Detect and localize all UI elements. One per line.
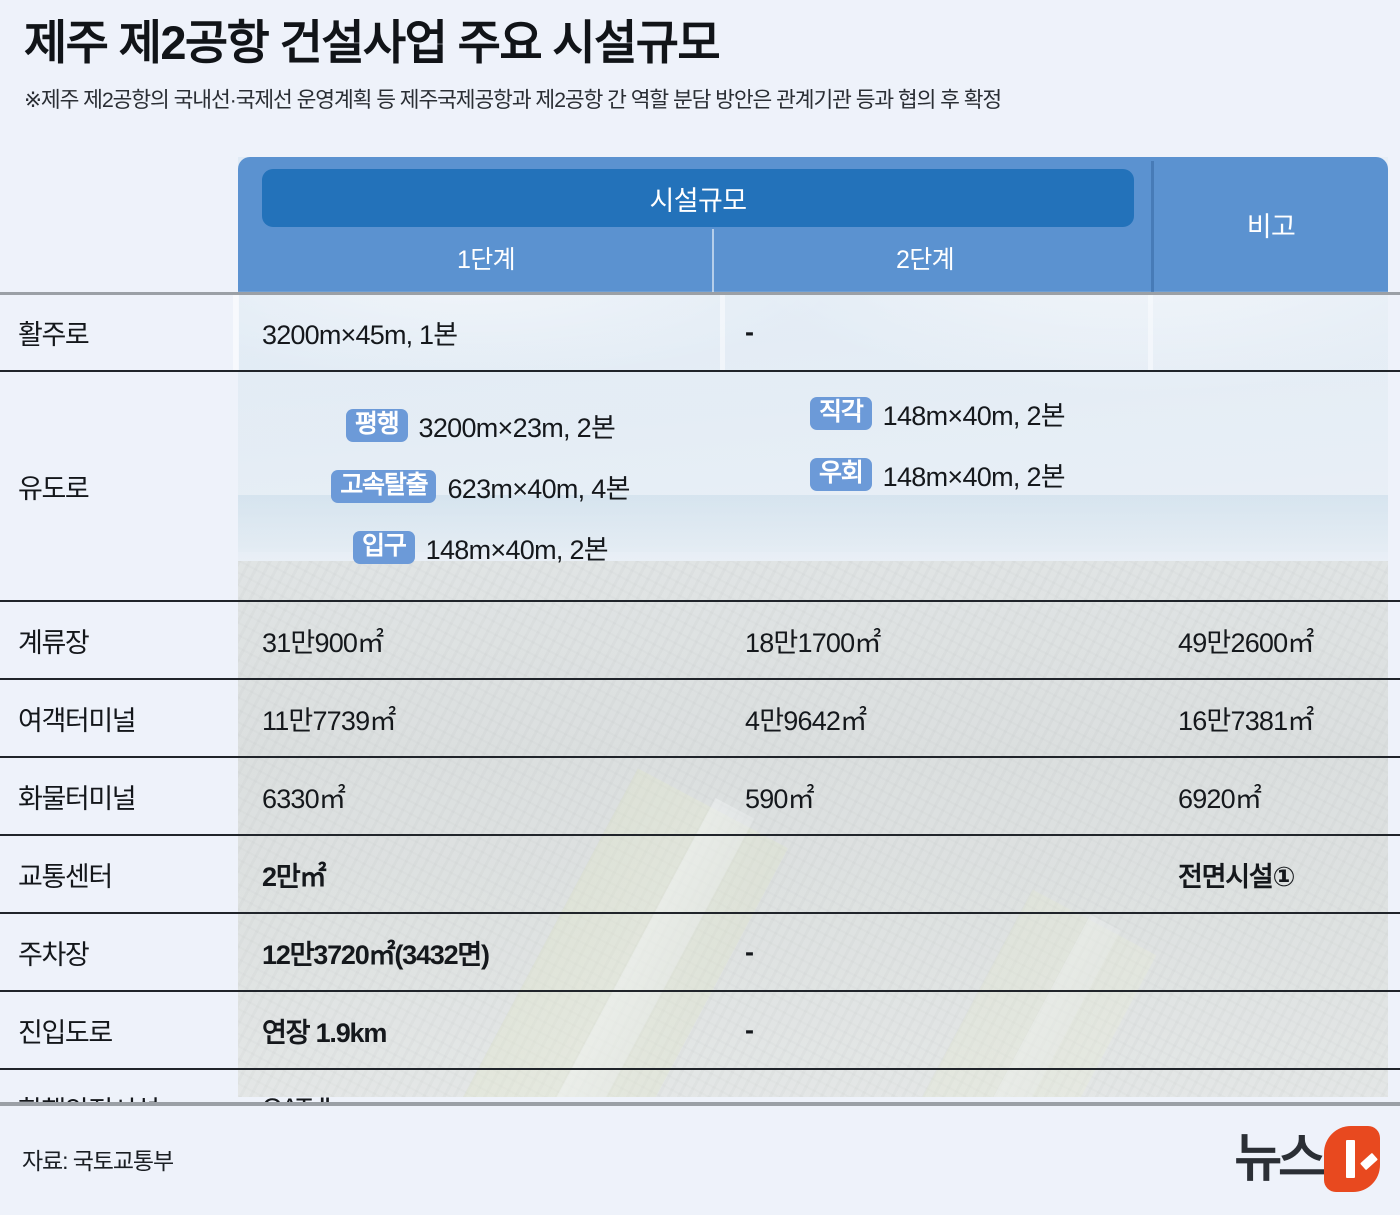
title-block: 제주 제2공항 건설사업 주요 시설규모 ※제주 제2공항의 국내선·국제선 운… <box>24 18 1384 114</box>
row-label-access-road: 진입도로 <box>0 992 238 1068</box>
cell-cargo-terminal-note: 6920㎡ <box>1152 758 1400 834</box>
cell-runway-stage1: 3200m×45m, 1본 <box>238 295 723 370</box>
taxiway-stage2-line: 직각 148m×40m, 2본 <box>810 394 1065 433</box>
table-row: 진입도로 연장 1.9km - <box>0 990 1400 1068</box>
taxiway-right-angle-value: 148m×40m, 2본 <box>883 394 1065 433</box>
taxiway-stage1-line: 평행 3200m×23m, 2본 <box>346 406 615 445</box>
cell-cargo-terminal-stage2: 590㎡ <box>723 758 1152 834</box>
table-row: 유도로 평행 3200m×23m, 2본 고속탈출 623m×40m, 4본 입… <box>0 370 1400 600</box>
news1-logo: 뉴스 <box>1234 1126 1380 1192</box>
taxiway-bypass-value: 148m×40m, 2본 <box>883 455 1065 494</box>
cell-parking-note <box>1152 914 1400 990</box>
badge-parallel: 평행 <box>346 409 408 442</box>
taxiway-entrance-value: 148m×40m, 2본 <box>426 528 608 567</box>
table-row: 화물터미널 6330㎡ 590㎡ 6920㎡ <box>0 756 1400 834</box>
page-subtitle: ※제주 제2공항의 국내선·국제선 운영계획 등 제주국제공항과 제2공항 간 … <box>24 83 1384 114</box>
taxiway-parallel-value: 3200m×23m, 2본 <box>419 406 616 445</box>
row-label-apron: 계류장 <box>0 602 238 678</box>
taxiway-rapid-exit-value: 623m×40m, 4본 <box>447 467 629 506</box>
page-title: 제주 제2공항 건설사업 주요 시설규모 <box>24 18 1384 69</box>
column-header-stage2: 2단계 <box>716 229 1134 287</box>
column-header-stage1: 1단계 <box>262 229 710 287</box>
column-header-note: 비고 <box>1154 157 1388 292</box>
table-row: 교통센터 2만㎡ 전면시설① <box>0 834 1400 912</box>
cell-transport-center-stage2 <box>723 836 1152 912</box>
source-note: 자료: 국토교통부 <box>22 1142 173 1176</box>
taxiway-stage1-line: 고속탈출 623m×40m, 4본 <box>331 467 630 506</box>
cell-cargo-terminal-stage1: 6330㎡ <box>238 758 723 834</box>
table-row: 활주로 3200m×45m, 1본 - <box>0 292 1400 370</box>
row-label-taxiway: 유도로 <box>0 372 238 600</box>
infographic-root: 제주 제2공항 건설사업 주요 시설규모 ※제주 제2공항의 국내선·국제선 운… <box>0 0 1400 1215</box>
table-header-band: 시설규모 1단계 2단계 비고 <box>238 157 1388 292</box>
header-divider-stages <box>712 229 714 292</box>
badge-right-angle: 직각 <box>810 397 872 430</box>
cell-passenger-terminal-stage2: 4만9642㎡ <box>723 680 1152 756</box>
cell-taxiway-stage1: 평행 3200m×23m, 2본 고속탈출 623m×40m, 4본 입구 14… <box>238 372 723 600</box>
table-body: 활주로 3200m×45m, 1본 - 유도로 평행 3200m×23m, 2본 <box>0 292 1400 1146</box>
group-header-label: 시설규모 <box>650 179 747 218</box>
cell-transport-center-note: 전면시설① <box>1152 836 1400 912</box>
row-label-parking: 주차장 <box>0 914 238 990</box>
cell-parking-stage2: - <box>723 914 1152 990</box>
cell-runway-note <box>1152 295 1400 370</box>
cell-apron-note: 49만2600㎡ <box>1152 602 1400 678</box>
cell-parking-stage1: 12만3720㎡(3432면) <box>238 914 723 990</box>
taxiway-stage2-line: 우회 148m×40m, 2본 <box>810 455 1065 494</box>
row-label-transport-center: 교통센터 <box>0 836 238 912</box>
logo-wordmark: 뉴스 <box>1234 1133 1322 1185</box>
table-row: 계류장 31만900㎡ 18만1700㎡ 49만2600㎡ <box>0 600 1400 678</box>
cell-runway-stage2: - <box>723 295 1152 370</box>
facility-scale-table: 시설규모 1단계 2단계 비고 활주로 3200m×45m, 1본 - <box>0 157 1400 1102</box>
cell-access-road-note <box>1152 992 1400 1068</box>
row-label-runway: 활주로 <box>0 295 238 370</box>
cell-passenger-terminal-note: 16만7381㎡ <box>1152 680 1400 756</box>
row-label-passenger-terminal: 여객터미널 <box>0 680 238 756</box>
cell-transport-center-stage1: 2만㎡ <box>238 836 723 912</box>
group-header-pill: 시설규모 <box>262 169 1134 227</box>
cell-access-road-stage2: - <box>723 992 1152 1068</box>
table-row: 주차장 12만3720㎡(3432면) - <box>0 912 1400 990</box>
badge-entrance: 입구 <box>353 531 415 564</box>
table-row: 여객터미널 11만7739㎡ 4만9642㎡ 16만7381㎡ <box>0 678 1400 756</box>
row-label-cargo-terminal: 화물터미널 <box>0 758 238 834</box>
footer: 자료: 국토교통부 뉴스 <box>0 1106 1400 1215</box>
taxiway-stage1-line: 입구 148m×40m, 2본 <box>353 528 608 567</box>
cell-passenger-terminal-stage1: 11만7739㎡ <box>238 680 723 756</box>
badge-bypass: 우회 <box>810 458 872 491</box>
cell-taxiway-stage2: 직각 148m×40m, 2본 우회 148m×40m, 2본 <box>723 372 1152 600</box>
logo-one-icon <box>1324 1126 1380 1192</box>
cell-apron-stage2: 18만1700㎡ <box>723 602 1152 678</box>
cell-access-road-stage1: 연장 1.9km <box>238 992 723 1068</box>
cell-taxiway-note <box>1152 372 1400 600</box>
badge-rapid-exit: 고속탈출 <box>331 470 436 503</box>
cell-apron-stage1: 31만900㎡ <box>238 602 723 678</box>
